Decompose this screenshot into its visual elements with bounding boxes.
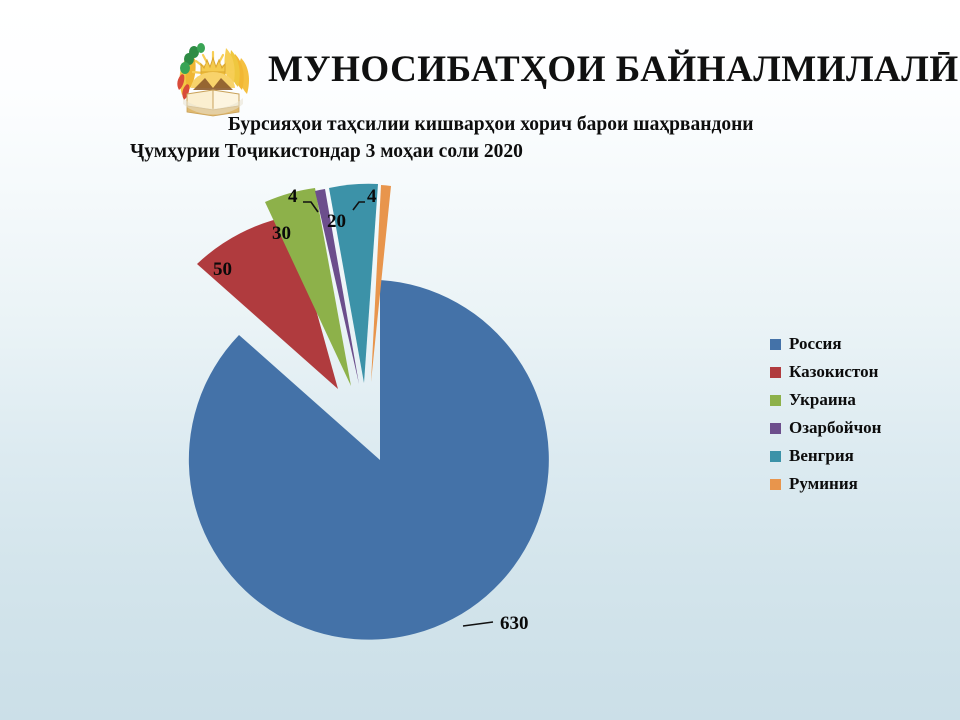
- legend-label-russia: Россия: [789, 334, 842, 354]
- legend-swatch-kazakhstan: [770, 367, 781, 378]
- data-label-kazakhstan: 50: [213, 259, 232, 280]
- legend-item-hungary[interactable]: Венгрия: [770, 442, 950, 470]
- pie-slice-russia[interactable]: [189, 280, 549, 640]
- tajikistan-coat-of-arms-icon: [163, 28, 263, 128]
- data-label-hungary: 20: [327, 211, 346, 232]
- data-label-russia: 630: [500, 613, 529, 634]
- legend-swatch-russia: [770, 339, 781, 350]
- legend-item-russia[interactable]: Россия: [770, 330, 950, 358]
- page-title: МУНОСИБАТҲОИ БАЙНАЛМИЛАЛӢ: [268, 48, 959, 91]
- legend-label-hungary: Венгрия: [789, 446, 854, 466]
- legend-swatch-hungary: [770, 451, 781, 462]
- legend-label-romania: Руминия: [789, 474, 858, 494]
- leader-line-russia: [463, 622, 493, 626]
- legend-label-kazakhstan: Казокистон: [789, 362, 878, 382]
- header: МУНОСИБАТҲОИ БАЙНАЛМИЛАЛӢ Бурсияҳои таҳс…: [0, 0, 960, 175]
- legend-label-azerbaijan: Озарбойчон: [789, 418, 881, 438]
- legend-swatch-azerbaijan: [770, 423, 781, 434]
- legend-item-azerbaijan[interactable]: Озарбойчон: [770, 414, 950, 442]
- legend-swatch-romania: [770, 479, 781, 490]
- legend-swatch-ukraine: [770, 395, 781, 406]
- legend-item-ukraine[interactable]: Украина: [770, 386, 950, 414]
- data-label-azerbaijan: 4: [288, 186, 298, 207]
- subtitle-line-1: Бурсияҳои таҳсилии кишварҳои хорич барои…: [228, 114, 754, 136]
- legend-item-romania[interactable]: Руминия: [770, 470, 950, 498]
- pie-chart: 630 50 30 4 20 4: [0, 160, 760, 680]
- data-label-romania: 4: [367, 186, 377, 207]
- legend-item-kazakhstan[interactable]: Казокистон: [770, 358, 950, 386]
- legend-label-ukraine: Украина: [789, 390, 856, 410]
- chart-legend: Россия Казокистон Украина Озарбойчон Вен…: [770, 330, 950, 498]
- data-label-ukraine: 30: [272, 223, 291, 244]
